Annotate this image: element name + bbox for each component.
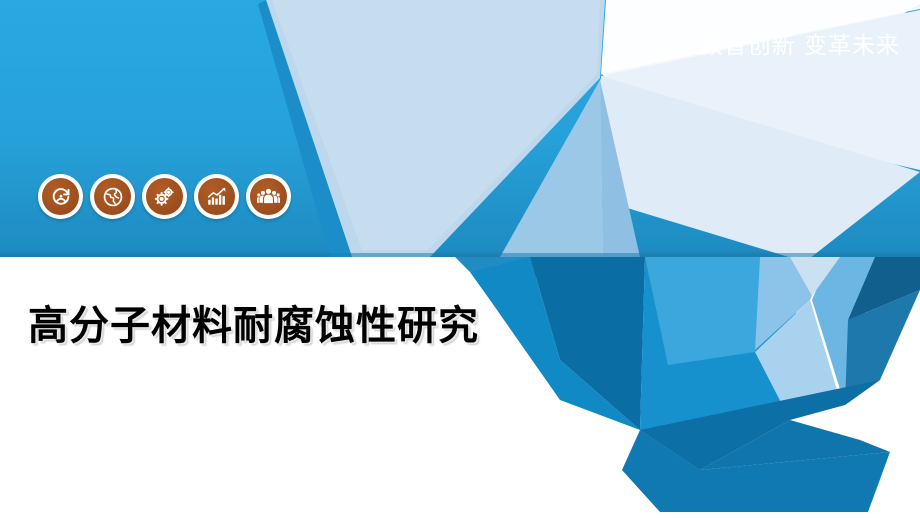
bar-chart-growth-icon <box>198 178 235 215</box>
low-poly-geometry <box>0 0 920 518</box>
globe-icon <box>94 178 131 215</box>
feature-icon-row <box>38 174 291 219</box>
icon-badge-bar-chart[interactable] <box>194 174 239 219</box>
icon-badge-recycle[interactable] <box>38 174 83 219</box>
poly-band-bottom-sliver <box>0 253 920 257</box>
icon-badge-people[interactable] <box>246 174 291 219</box>
icon-badge-gears[interactable] <box>142 174 187 219</box>
icon-badge-globe[interactable] <box>90 174 135 219</box>
gears-icon <box>146 178 183 215</box>
presentation-slide: 数智创新 变革未来 <box>0 0 920 518</box>
people-group-icon <box>250 178 287 215</box>
page-title: 高分子材料耐腐蚀性研究 <box>28 293 479 351</box>
tagline-text: 数智创新 变革未来 <box>700 26 900 60</box>
recycle-arrow-icon <box>42 178 79 215</box>
